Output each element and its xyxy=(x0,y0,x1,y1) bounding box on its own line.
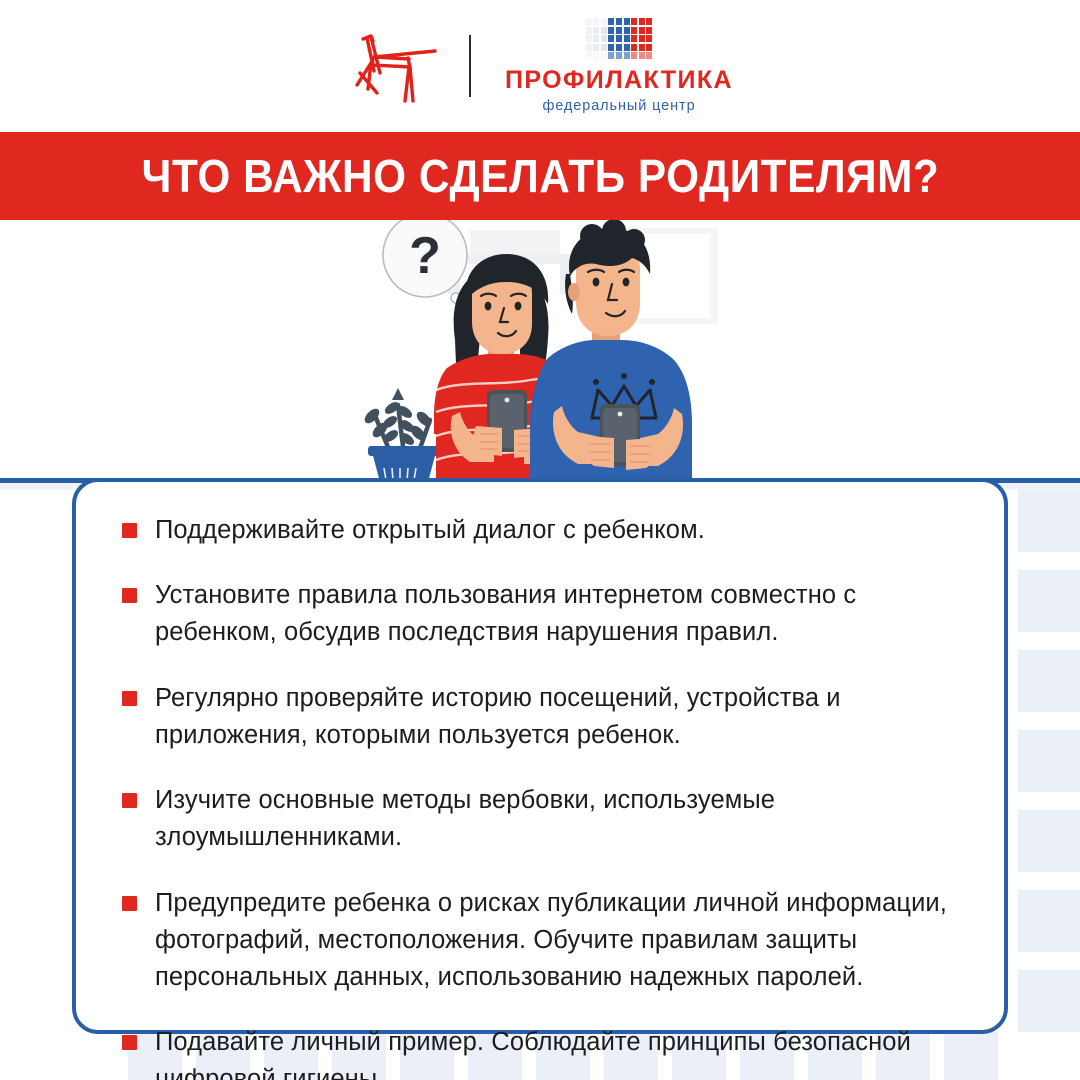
red-square-bullet-icon xyxy=(122,588,137,603)
list-item: Поддерживайте открытый диалог с ребенком… xyxy=(122,512,960,549)
pixel-grid-cell xyxy=(631,35,637,42)
pattern-square xyxy=(1018,650,1080,712)
pattern-square xyxy=(1018,890,1080,952)
pixel-grid-cell xyxy=(646,18,652,25)
pixel-grid-cell xyxy=(593,18,599,25)
svg-text:?: ? xyxy=(409,227,441,285)
tip-text: Изучите основные методы вербовки, исполь… xyxy=(155,782,960,856)
tip-text: Подавайте личный пример. Соблюдайте прин… xyxy=(155,1024,960,1080)
red-square-bullet-icon xyxy=(122,523,137,538)
pixel-grid-cell xyxy=(631,52,637,59)
brand-block: ПРОФИЛАКТИКА федеральный центр xyxy=(505,18,733,114)
list-item: Установите правила пользования интернето… xyxy=(122,577,960,651)
list-item: Подавайте личный пример. Соблюдайте прин… xyxy=(122,1024,960,1080)
pattern-square xyxy=(1018,810,1080,872)
tips-card: Поддерживайте открытый диалог с ребенком… xyxy=(72,478,1008,1034)
pixel-grid-cell xyxy=(593,35,599,42)
pixel-grid-cell xyxy=(601,18,607,25)
pixel-grid-cell xyxy=(646,27,652,34)
tip-text: Поддерживайте открытый диалог с ребенком… xyxy=(155,512,705,549)
pixel-grid-cell xyxy=(616,52,622,59)
pixel-grid-cell xyxy=(616,35,622,42)
pixel-grid-cell xyxy=(616,44,622,51)
red-square-bullet-icon xyxy=(122,691,137,706)
pixel-grid-cell xyxy=(631,27,637,34)
tips-list: Поддерживайте открытый диалог с ребенком… xyxy=(122,512,960,1080)
pixel-grid-cell xyxy=(646,52,652,59)
pixel-grid-cell xyxy=(631,44,637,51)
red-square-bullet-icon xyxy=(122,896,137,911)
pattern-square xyxy=(1018,570,1080,632)
brand-header: ПРОФИЛАКТИКА федеральный центр xyxy=(0,0,1080,132)
logo-lockup: ПРОФИЛАКТИКА федеральный центр xyxy=(347,18,733,114)
pixel-grid-cell xyxy=(593,27,599,34)
list-item: Предупредите ребенка о рисках публикации… xyxy=(122,885,960,997)
pixel-grid-cell xyxy=(646,35,652,42)
pixel-grid-cell xyxy=(601,44,607,51)
pixel-grid-cell xyxy=(593,52,599,59)
pixel-grid-cell xyxy=(631,18,637,25)
pixel-grid-cell xyxy=(608,27,614,34)
pattern-square xyxy=(1018,490,1080,552)
pixel-grid-cell xyxy=(586,18,592,25)
teen-girl-and-boy-with-smartphones-illustration: ? xyxy=(0,220,1080,490)
list-item: Изучите основные методы вербовки, исполь… xyxy=(122,782,960,856)
red-square-bullet-icon xyxy=(122,793,137,808)
pixel-grid-cell xyxy=(593,44,599,51)
pixel-grid-cell xyxy=(586,44,592,51)
pixel-grid-cell xyxy=(608,35,614,42)
pixel-grid-cell xyxy=(586,52,592,59)
chair-line-drawing-icon xyxy=(347,27,443,105)
tip-text: Установите правила пользования интернето… xyxy=(155,577,960,651)
pixel-grid-cell xyxy=(639,27,645,34)
pixel-grid-cell xyxy=(586,35,592,42)
pixel-grid-cell xyxy=(624,35,630,42)
pattern-square xyxy=(1018,970,1080,1032)
pixel-grid-cell xyxy=(624,44,630,51)
tip-text: Регулярно проверяйте историю посещений, … xyxy=(155,680,960,754)
pixel-grid-cell xyxy=(608,44,614,51)
pixel-grid-cell xyxy=(601,27,607,34)
poster-root: ПРОФИЛАКТИКА федеральный центр ЧТО ВАЖНО… xyxy=(0,0,1080,1080)
pattern-square xyxy=(1018,730,1080,792)
red-square-bullet-icon xyxy=(122,1035,137,1050)
list-item: Регулярно проверяйте историю посещений, … xyxy=(122,680,960,754)
logo-divider xyxy=(469,35,471,97)
title-banner: ЧТО ВАЖНО СДЕЛАТЬ РОДИТЕЛЯМ? xyxy=(0,132,1080,220)
pixel-grid-cell xyxy=(601,35,607,42)
pixel-grid-flag-icon xyxy=(586,18,653,59)
pixel-grid-cell xyxy=(616,27,622,34)
pixel-grid-cell xyxy=(601,52,607,59)
pixel-grid-cell xyxy=(624,27,630,34)
pixel-grid-cell xyxy=(624,18,630,25)
pixel-grid-cell xyxy=(639,35,645,42)
page-title: ЧТО ВАЖНО СДЕЛАТЬ РОДИТЕЛЯМ? xyxy=(141,153,939,199)
pixel-grid-cell xyxy=(608,52,614,59)
pixel-grid-cell xyxy=(639,44,645,51)
pixel-grid-cell xyxy=(639,52,645,59)
pixel-grid-cell xyxy=(639,18,645,25)
tip-text: Предупредите ребенка о рисках публикации… xyxy=(155,885,960,997)
pixel-grid-cell xyxy=(616,18,622,25)
pixel-grid-cell xyxy=(646,44,652,51)
brand-name: ПРОФИЛАКТИКА xyxy=(505,68,733,93)
pixel-grid-cell xyxy=(624,52,630,59)
illustration-area: ? xyxy=(0,220,1080,490)
pixel-grid-cell xyxy=(608,18,614,25)
pixel-grid-cell xyxy=(586,27,592,34)
brand-subtitle: федеральный центр xyxy=(542,99,695,114)
